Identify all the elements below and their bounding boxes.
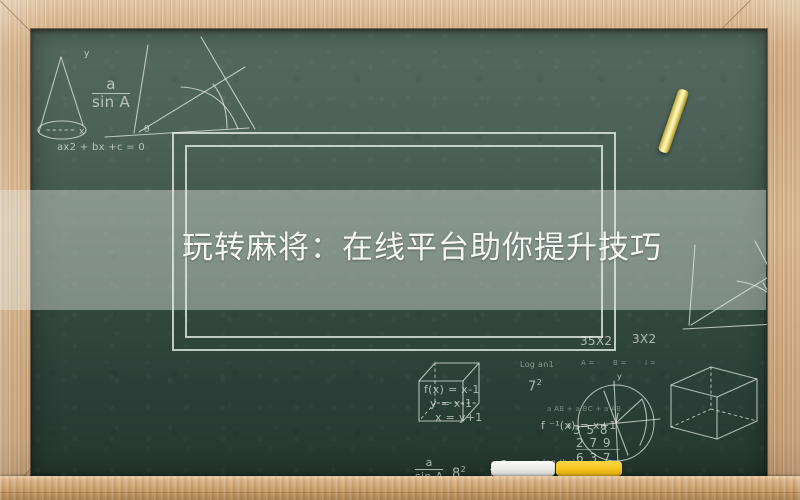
chalk-quadratic-equation: ax2 + bx +c = 0 — [57, 142, 145, 153]
chalk-ledge — [0, 476, 800, 500]
chalk-frac-num: a — [92, 77, 130, 93]
chalk-matrix-i: I = — [645, 359, 656, 367]
chalk-axis-x-left: x — [79, 127, 85, 137]
chalk-matrix-b: B = — [613, 359, 627, 367]
chalk-frac2-num: a — [415, 457, 443, 469]
chalk-seven-base: 7 — [528, 379, 537, 394]
chalk-x-equation: x = y+1 — [435, 411, 483, 424]
chalk-seven-squared: 72 — [528, 378, 542, 394]
white-chalk-piece[interactable] — [491, 461, 555, 476]
chalkboard-banner: y x θ a sin A ax2 + bx +c = 0 f(x) = x-1… — [0, 0, 800, 500]
chalk-misc-series: a AB + a BC + a AB — [547, 405, 621, 413]
chalk-angle-theta-left: θ — [144, 125, 150, 135]
yellow-chalk-piece[interactable] — [556, 461, 622, 476]
chalk-log-an1: Log an1 — [520, 360, 554, 369]
chalk-fx-equation: f(x) = x-1 — [424, 383, 480, 396]
chalk-eight-squared: 82 — [452, 465, 466, 476]
chalk-frac2-den: sin A — [415, 469, 443, 476]
page-title: 玩转麻将：在线平台助你提升技巧 — [182, 228, 662, 268]
chalk-subtraction-row-2: 2 7 9 — [576, 436, 612, 450]
chalk-law-of-sines-left: a sin A — [92, 77, 130, 111]
chalk-matrix-a: A = — [581, 359, 595, 367]
chalk-law-of-sines-center-a: a sin A — [415, 457, 443, 476]
chalk-frac-den: sin A — [92, 93, 130, 111]
chalk-subtraction-row-1: 3 5 8 — [573, 423, 609, 437]
chalk-mult-3x2: 3X2 — [632, 332, 656, 346]
chalk-eight-exponent: 2 — [461, 465, 466, 474]
cube-drawing-right — [671, 367, 757, 439]
chalk-y-equation: y = x-1 — [430, 397, 472, 410]
angle-diagram-right — [683, 241, 767, 329]
chalk-axis-x-right: x — [567, 421, 572, 430]
chalk-axis-y-left: y — [84, 49, 90, 59]
chalk-eight-base: 8 — [452, 466, 461, 476]
chalk-seven-exponent: 2 — [537, 378, 542, 387]
ledge-edge-line — [0, 492, 800, 493]
chalk-axis-y-right: y — [617, 372, 622, 381]
